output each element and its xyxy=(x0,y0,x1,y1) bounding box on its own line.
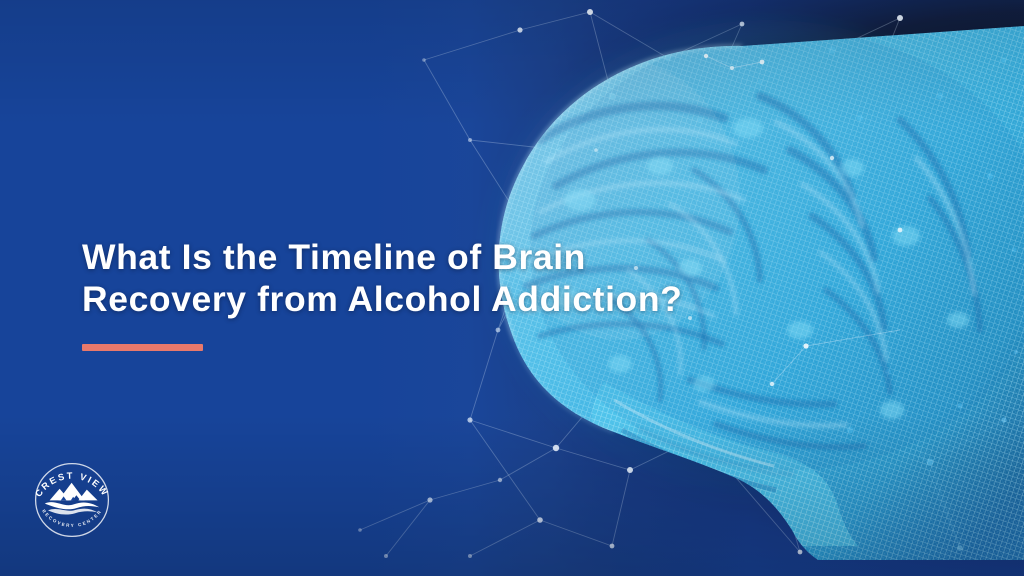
water-waves-icon xyxy=(45,502,99,514)
page-title: What Is the Timeline of Brain Recovery f… xyxy=(82,236,872,320)
crest-view-logo[interactable]: CREST VIEW RECOVERY CENTER xyxy=(24,452,120,548)
page-title-line-2: Recovery from Alcohol Addiction? xyxy=(82,278,872,320)
accent-underline xyxy=(82,344,203,351)
page-title-line-1: What Is the Timeline of Brain xyxy=(82,236,872,278)
article-header-banner: What Is the Timeline of Brain Recovery f… xyxy=(0,0,1024,576)
